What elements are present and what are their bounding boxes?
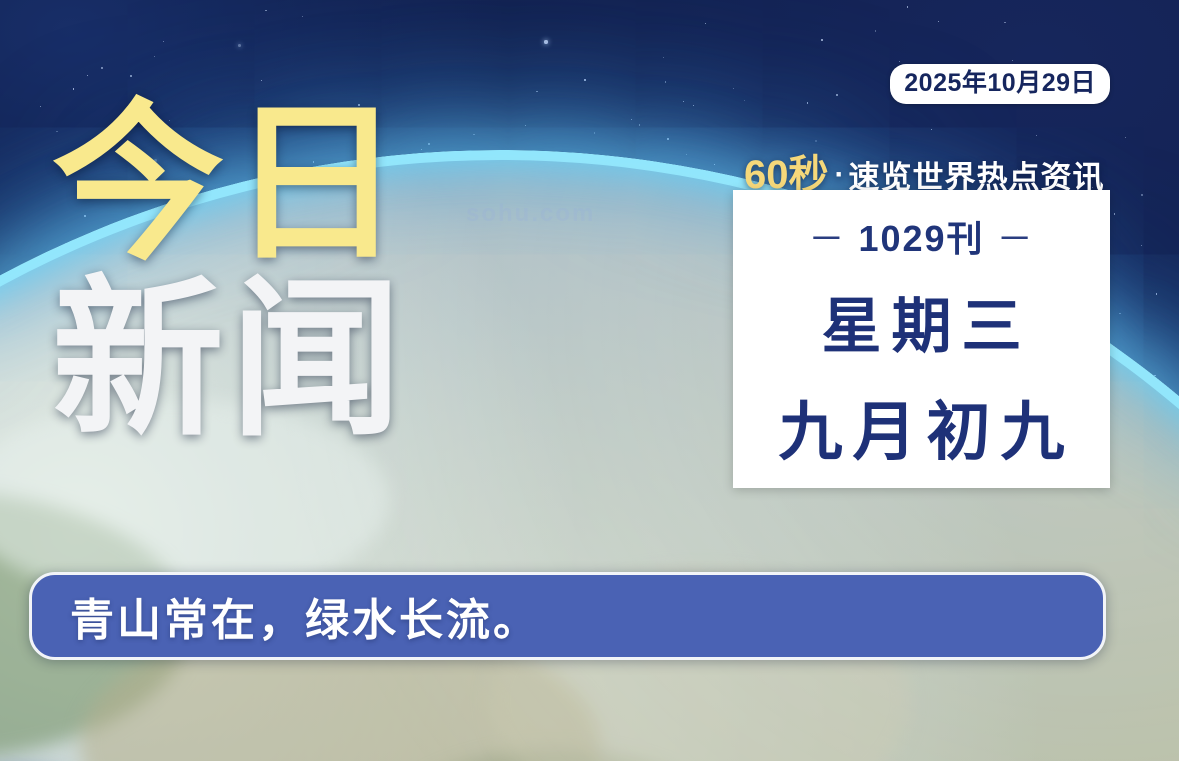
issue-dash-left: － (808, 218, 846, 259)
star (302, 16, 303, 17)
star (473, 134, 474, 135)
star (265, 10, 266, 11)
star (665, 81, 666, 82)
tagline-separator: · (835, 158, 845, 191)
star (525, 125, 526, 126)
star (536, 91, 537, 92)
issue-number: 1029刊 (858, 218, 984, 259)
headline-top: 今日 (52, 104, 408, 266)
star (163, 41, 164, 42)
star (875, 30, 876, 31)
issue-info-card: － 1029刊 － 星期三 九月初九 (733, 190, 1110, 488)
star (1141, 194, 1142, 195)
star (87, 75, 88, 76)
star (1119, 313, 1120, 314)
quote-banner: 青山常在，绿水长流。 (29, 572, 1106, 660)
star (130, 75, 132, 77)
star (154, 56, 155, 57)
star (807, 102, 808, 103)
watermark-text: sohu.com (466, 200, 595, 228)
star (40, 106, 41, 107)
star (639, 124, 640, 125)
weekday-label: 星期三 (812, 278, 1032, 365)
star (1114, 213, 1115, 214)
star (683, 101, 684, 102)
star (544, 40, 547, 43)
star (238, 44, 241, 47)
star (693, 105, 694, 106)
star (931, 129, 932, 130)
star (428, 143, 430, 145)
star (744, 100, 745, 101)
star (261, 80, 262, 81)
star (101, 67, 102, 68)
star (1004, 22, 1005, 23)
star (1141, 245, 1142, 246)
star (1012, 60, 1013, 61)
star (686, 154, 687, 155)
star (1125, 137, 1126, 138)
quote-text: 青山常在，绿水长流。 (70, 584, 540, 648)
star (836, 94, 838, 96)
issue-dash-right: － (997, 218, 1035, 259)
lunar-date-label: 九月初九 (769, 381, 1075, 473)
star (1036, 135, 1037, 136)
star (663, 57, 664, 58)
star (631, 119, 632, 120)
poster-canvas: sohu.com 2025年10月29日 今日 新闻 60秒·速览世界热点资讯 … (0, 0, 1179, 761)
star (1156, 293, 1157, 294)
star (714, 164, 715, 165)
star (899, 61, 900, 62)
star (594, 132, 595, 133)
star (421, 149, 422, 150)
star (705, 23, 706, 24)
star (584, 79, 585, 80)
star (821, 39, 823, 41)
star (938, 21, 939, 22)
headline-bottom: 新闻 (52, 280, 408, 442)
star (733, 88, 734, 89)
star (907, 6, 908, 7)
star (667, 138, 669, 140)
date-badge: 2025年10月29日 (890, 64, 1110, 104)
issue-line: － 1029刊 － (808, 210, 1034, 262)
page-title: 今日 新闻 (52, 104, 408, 441)
